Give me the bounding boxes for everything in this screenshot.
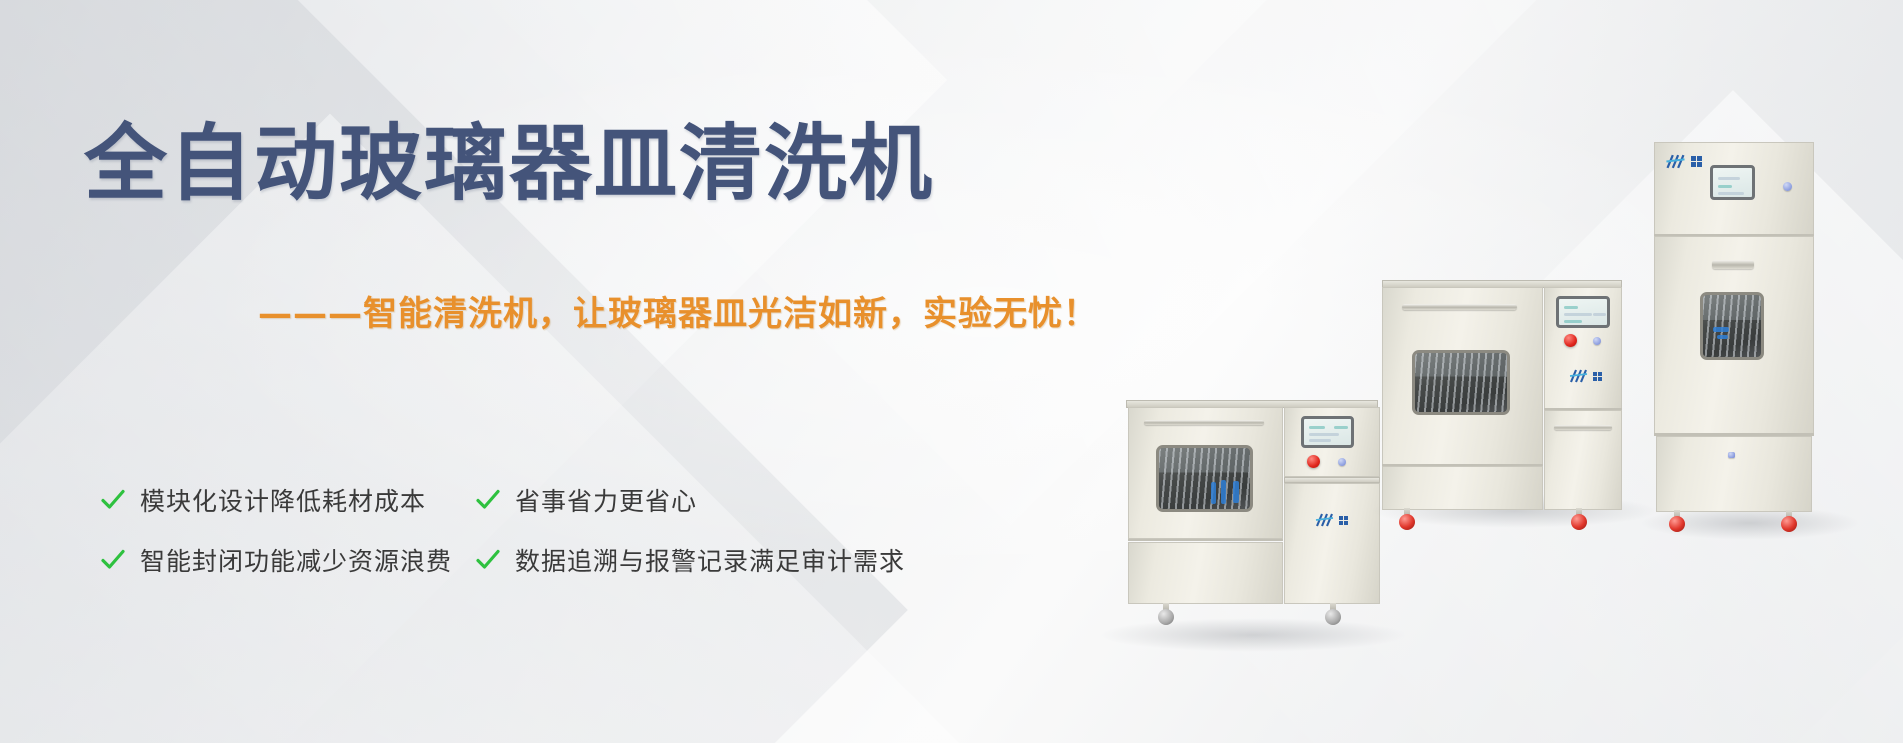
glassware-item bbox=[1233, 481, 1239, 503]
screen-content-line bbox=[1593, 313, 1606, 316]
screen-content-line bbox=[1718, 192, 1744, 195]
glassware-load bbox=[1703, 295, 1761, 357]
machine-base-cabinet bbox=[1656, 436, 1812, 512]
status-indicator bbox=[1728, 452, 1735, 458]
chamber-viewing-window bbox=[1412, 350, 1510, 415]
machine-lower-drawer bbox=[1128, 542, 1283, 604]
screen-content-line bbox=[1564, 306, 1578, 309]
brand-wordmark bbox=[1339, 516, 1348, 525]
power-button[interactable] bbox=[1338, 458, 1346, 466]
screen-content-line bbox=[1309, 439, 1331, 442]
brand-wordmark bbox=[1691, 156, 1702, 167]
emergency-stop-button[interactable] bbox=[1564, 334, 1577, 347]
brand-logo bbox=[1314, 512, 1348, 528]
screen-content-line bbox=[1718, 177, 1740, 180]
screen-content-line bbox=[1718, 185, 1732, 188]
brand-wordmark bbox=[1593, 372, 1602, 381]
screen-content-line bbox=[1309, 426, 1325, 429]
glassware-item bbox=[1211, 482, 1216, 504]
door-handle bbox=[1144, 420, 1264, 425]
product-hero-banner: 全自动玻璃器皿清洗机 ———智能清洗机，让玻璃器皿光洁如新，实验无忧！ 模块化设… bbox=[0, 0, 1903, 743]
glassware-item bbox=[1221, 480, 1226, 504]
door-handle bbox=[1712, 260, 1754, 269]
brand-logo bbox=[1568, 368, 1602, 384]
door-handle bbox=[1402, 304, 1517, 310]
touchscreen-display[interactable] bbox=[1556, 296, 1610, 328]
glassware-load bbox=[1415, 353, 1507, 412]
screen-content-line bbox=[1334, 426, 1348, 429]
caster-wheel bbox=[1781, 516, 1797, 532]
chamber-viewing-window bbox=[1700, 292, 1764, 360]
product-image-group bbox=[0, 0, 1903, 743]
caster-wheel bbox=[1158, 609, 1174, 625]
product-shadow bbox=[1098, 618, 1408, 652]
panel-seam bbox=[1128, 539, 1283, 541]
caster-wheel bbox=[1325, 609, 1341, 625]
glassware-item bbox=[1717, 335, 1728, 339]
screen-content-line bbox=[1309, 433, 1339, 436]
emergency-stop-button[interactable] bbox=[1307, 455, 1320, 468]
brand-logo bbox=[1664, 153, 1702, 170]
screen-content-line bbox=[1564, 313, 1592, 316]
screen-content-line bbox=[1564, 320, 1582, 323]
caster-wheel bbox=[1399, 514, 1415, 530]
power-button[interactable] bbox=[1593, 337, 1601, 345]
product-image-tall-column-washer bbox=[1650, 110, 1850, 530]
glassware-item bbox=[1713, 327, 1729, 332]
machine-side-cabinet bbox=[1284, 483, 1380, 604]
caster-wheel bbox=[1669, 516, 1685, 532]
cabinet-handle bbox=[1554, 425, 1612, 430]
power-button[interactable] bbox=[1783, 182, 1792, 191]
caster-wheel bbox=[1571, 514, 1587, 530]
touchscreen-display[interactable] bbox=[1710, 165, 1755, 200]
touchscreen-display[interactable] bbox=[1301, 416, 1354, 448]
chamber-viewing-window bbox=[1156, 445, 1253, 512]
product-image-freestanding-washer bbox=[1380, 272, 1650, 522]
product-image-undercounter-washer bbox=[1108, 400, 1398, 640]
machine-lower-drawer bbox=[1382, 466, 1543, 510]
